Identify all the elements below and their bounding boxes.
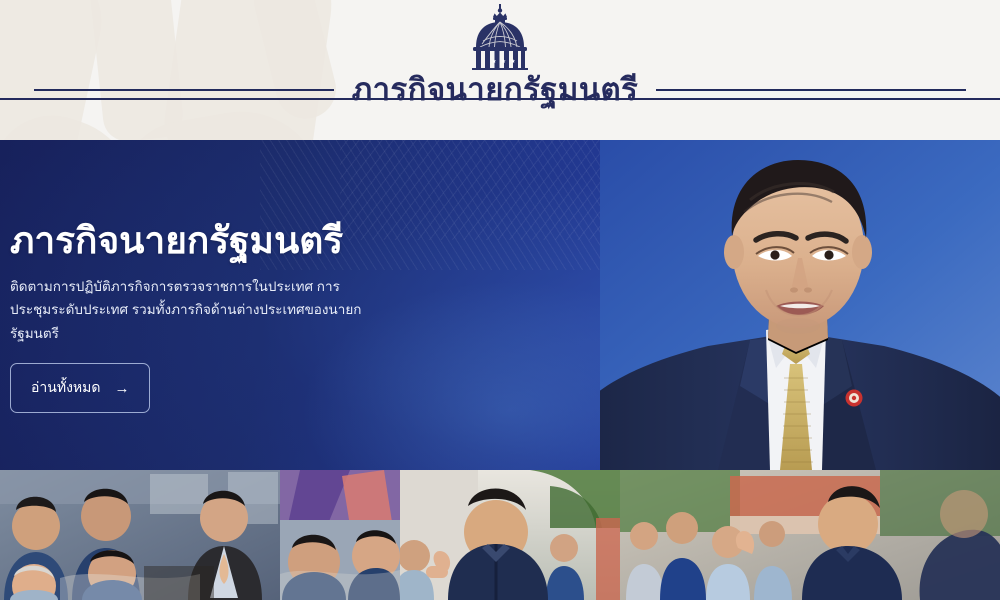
header-rule-left xyxy=(34,89,334,91)
hero-heading: ภารกิจนายกรัฐมนตรี xyxy=(10,220,410,263)
prime-minister-portrait xyxy=(600,140,1000,470)
arrow-right-icon: → xyxy=(114,381,129,396)
header-rule-right xyxy=(656,89,966,91)
gallery-photo[interactable] xyxy=(620,470,1000,600)
photo-gallery-strip xyxy=(0,470,1000,600)
header-inner xyxy=(0,0,1000,140)
site-header: ภารกิจนายกรัฐมนตรี xyxy=(0,0,1000,140)
page-root: ภารกิจนายกรัฐมนตรี xyxy=(0,0,1000,600)
gallery-photo[interactable] xyxy=(0,470,280,600)
hero-banner: ภารกิจนายกรัฐมนตรี ติดตามการปฏิบัติภารกิ… xyxy=(0,140,1000,470)
hero-subtitle: ติดตามการปฏิบัติภารกิจการตรวจราชการในประ… xyxy=(10,275,365,346)
read-all-button[interactable]: อ่านทั้งหมด → xyxy=(10,363,150,413)
gallery-photo[interactable] xyxy=(280,470,400,600)
gallery-photo[interactable] xyxy=(400,470,620,600)
header-divider xyxy=(0,98,1000,100)
government-dome-icon xyxy=(464,4,536,70)
header-title-row: ภารกิจนายกรัฐมนตรี xyxy=(0,74,1000,105)
page-title: ภารกิจนายกรัฐมนตรี xyxy=(352,74,639,105)
read-all-label: อ่านทั้งหมด xyxy=(31,377,100,399)
hero-copy: ภารกิจนายกรัฐมนตรี ติดตามการปฏิบัติภารกิ… xyxy=(10,220,410,413)
